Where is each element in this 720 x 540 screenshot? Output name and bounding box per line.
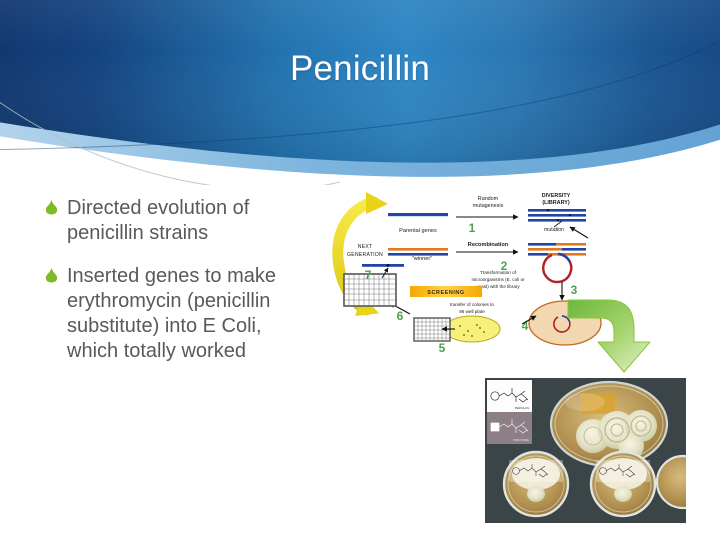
presentation-slide: Penicillin Directed evolution of penicil… — [0, 0, 720, 540]
svg-text:mutation: mutation — [544, 227, 564, 233]
title-banner: Penicillin — [0, 0, 720, 185]
petri-dish-large-colonies — [551, 382, 667, 466]
teardrop-bullet-icon — [45, 199, 58, 221]
bullet-list: Directed evolution of penicillin strains… — [45, 196, 303, 382]
svg-text:yeast) with the library: yeast) with the library — [476, 284, 520, 289]
teardrop-bullet-icon — [45, 267, 58, 289]
penicillium-petri-dish-photos: PENICILLIN STRUCTURE — [485, 378, 686, 523]
svg-text:Transformation of: Transformation of — [480, 270, 517, 275]
svg-text:DIVERSITY: DIVERSITY — [542, 193, 571, 199]
svg-text:1: 1 — [469, 221, 476, 235]
list-item-label: Directed evolution of penicillin strains — [67, 196, 303, 246]
list-item-label: Inserted genes to make erythromycin (pen… — [67, 264, 303, 364]
svg-text:7: 7 — [365, 268, 372, 282]
svg-text:STRUCTURE: STRUCTURE — [513, 438, 529, 442]
svg-text:96 well plate: 96 well plate — [459, 309, 485, 314]
svg-text:SCREENING: SCREENING — [427, 290, 464, 296]
svg-text:PENICILLIN: PENICILLIN — [515, 406, 529, 410]
petri-dish-small-right — [591, 452, 655, 516]
svg-text:NEXT: NEXT — [358, 244, 373, 250]
svg-text:transfer of colonies to: transfer of colonies to — [450, 302, 494, 307]
svg-text:Random: Random — [478, 196, 499, 202]
list-item: Directed evolution of penicillin strains — [45, 196, 303, 246]
green-bent-arrow — [566, 292, 658, 374]
svg-text:(LIBRARY): (LIBRARY) — [542, 200, 570, 206]
svg-text:mutagenesis: mutagenesis — [473, 203, 504, 209]
svg-text:“winner”: “winner” — [412, 256, 432, 262]
list-item: Inserted genes to make erythromycin (pen… — [45, 264, 303, 364]
svg-text:6: 6 — [397, 309, 404, 323]
svg-text:Recombination: Recombination — [468, 242, 509, 248]
svg-text:Parental genes: Parental genes — [399, 228, 437, 234]
svg-text:GENERATION: GENERATION — [347, 252, 383, 258]
petri-dish-small-left — [504, 452, 568, 516]
svg-text:microorganisms (E. coli or: microorganisms (E. coli or — [471, 277, 525, 282]
svg-text:5: 5 — [439, 341, 446, 355]
